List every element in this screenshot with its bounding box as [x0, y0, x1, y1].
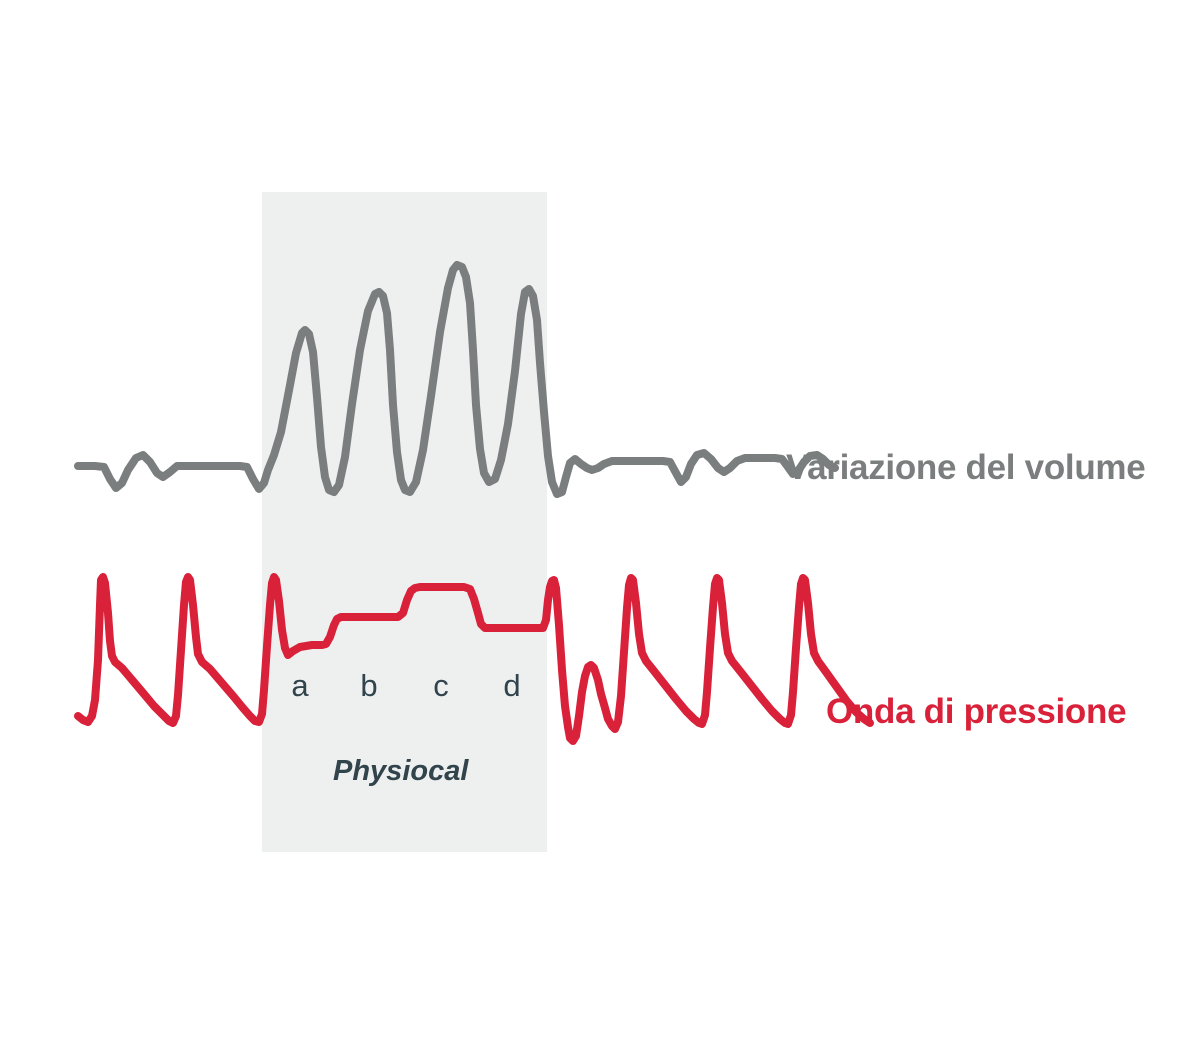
beat-marker-d: d: [495, 670, 529, 701]
waveform-canvas: [0, 0, 1196, 1046]
pressure-series-label: Onda di pressione: [826, 694, 1126, 729]
beat-marker-b: b: [352, 670, 386, 701]
physiocal-highlight-band: [262, 192, 547, 852]
physiocal-caption: Physiocal: [333, 757, 468, 786]
beat-marker-c: c: [424, 670, 458, 701]
volume-series-label: Variazione del volume: [786, 450, 1145, 485]
beat-marker-a: a: [283, 670, 317, 701]
figure-root: Variazione del volume Onda di pressione …: [0, 0, 1196, 1046]
